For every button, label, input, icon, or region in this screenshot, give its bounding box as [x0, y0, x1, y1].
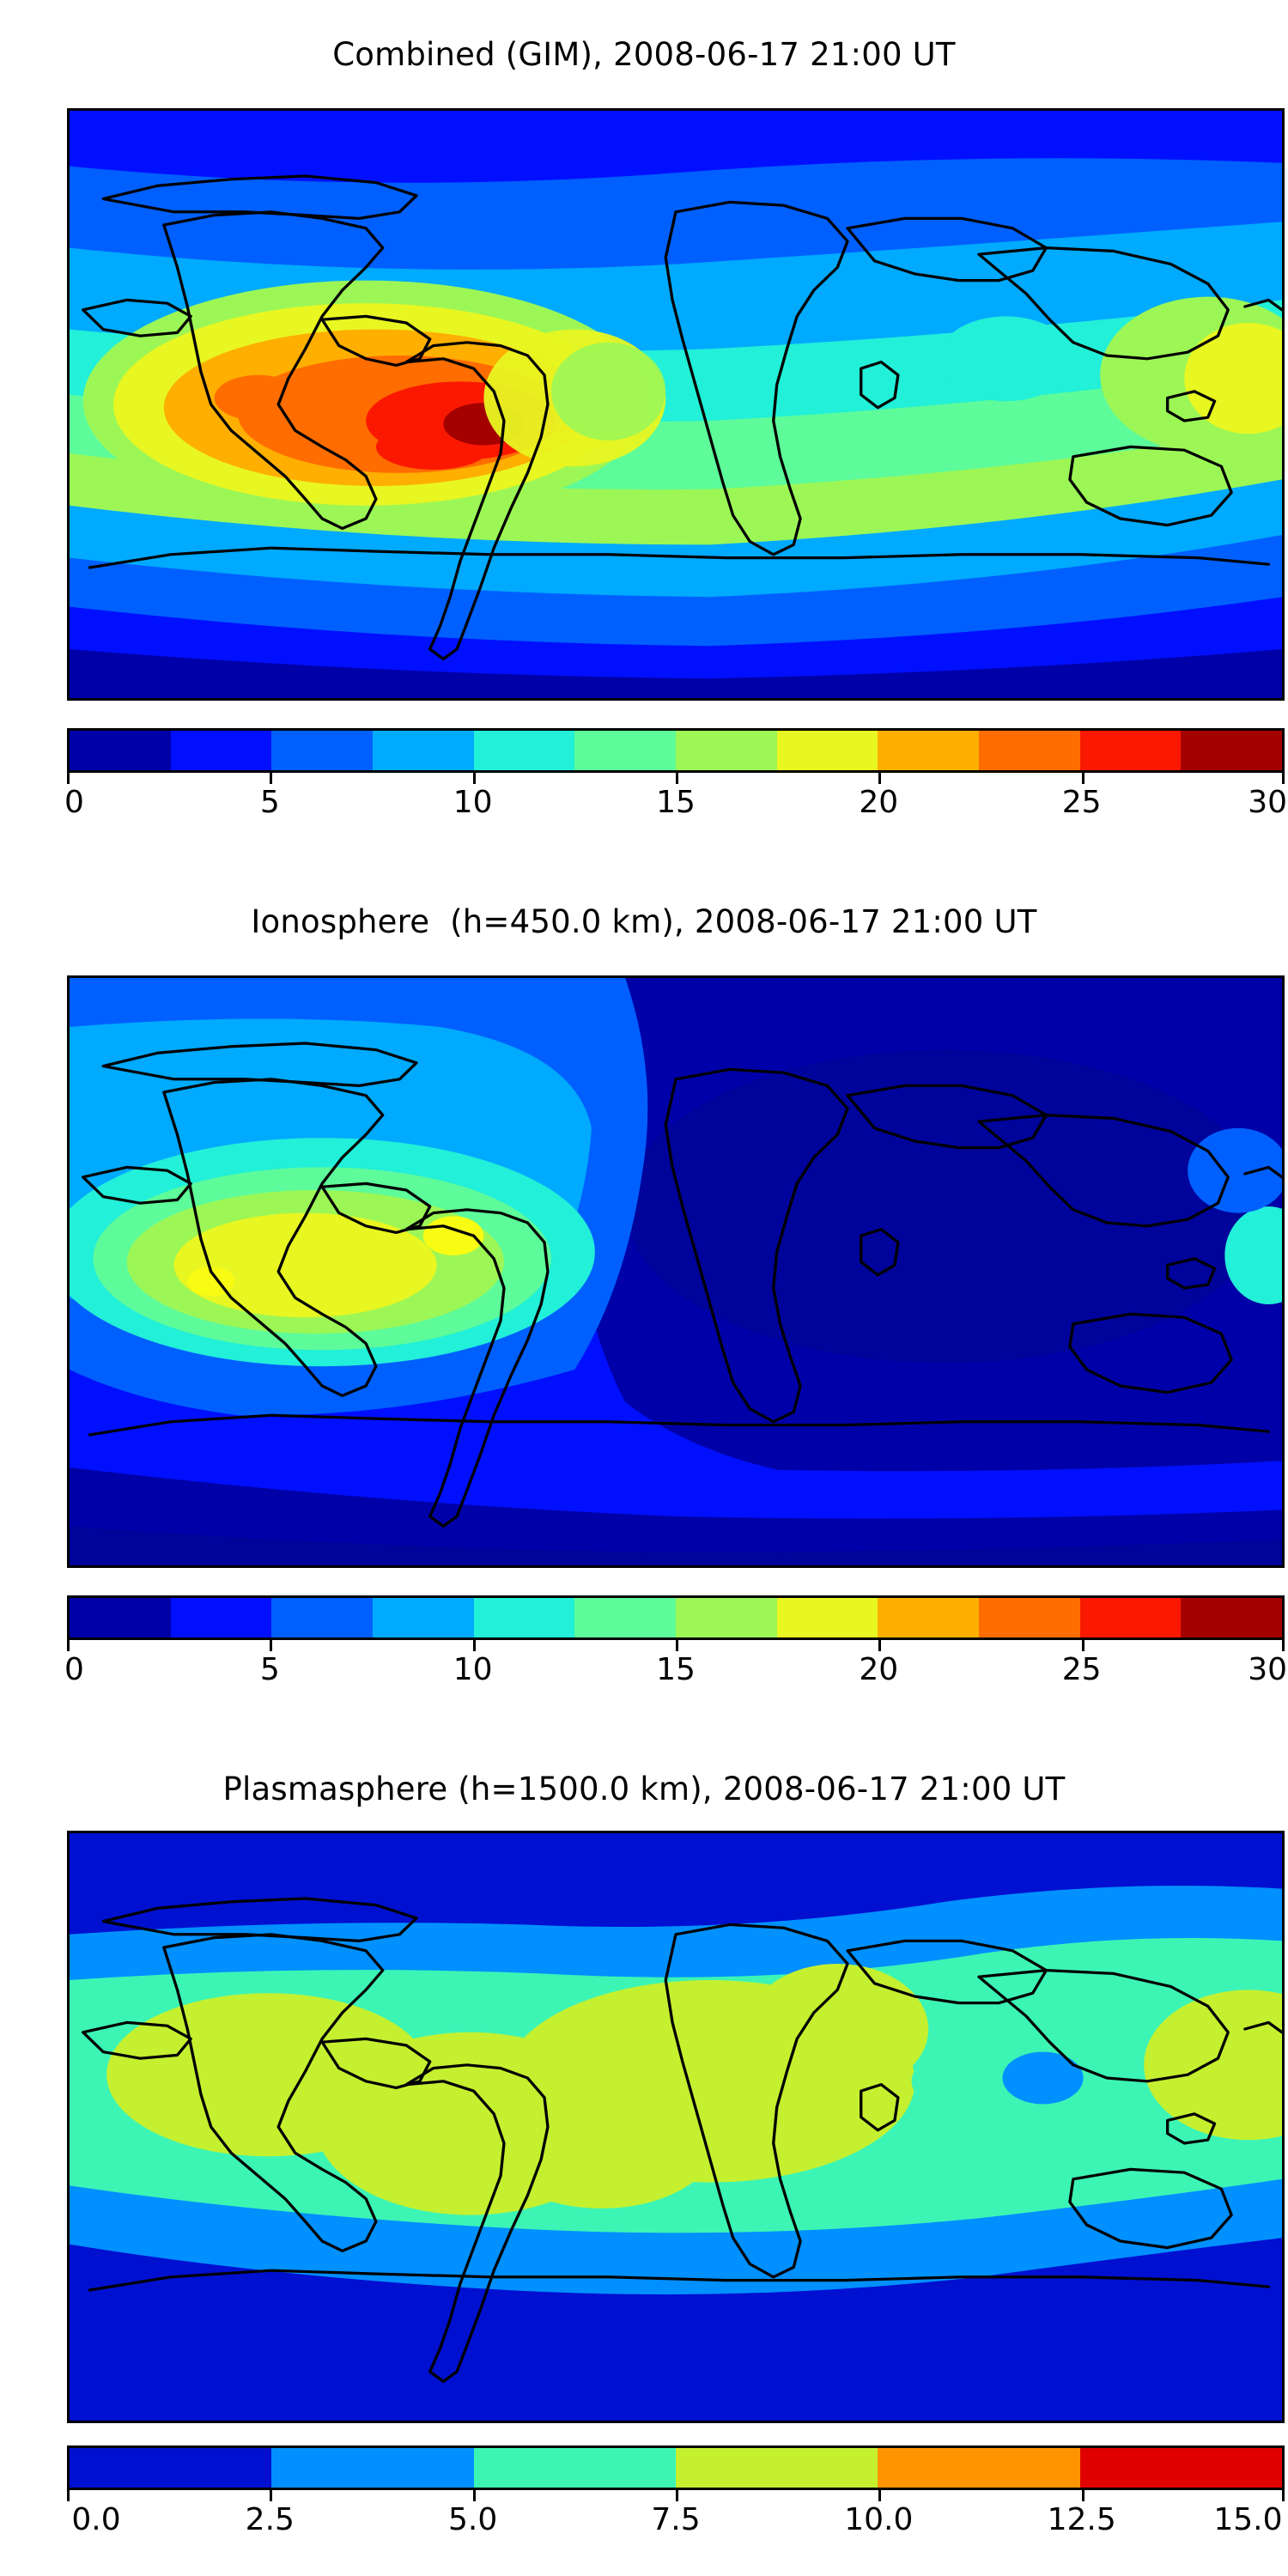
colorbar-cell — [777, 731, 878, 770]
panel-title-combined: Combined (GIM), 2008-06-17 21:00 UT — [0, 36, 1288, 74]
colorbar-cell — [373, 1598, 474, 1637]
colorbar-cell — [676, 731, 777, 770]
colorbar-tick-label: 0 — [64, 785, 84, 821]
colorbar-cell — [171, 1598, 272, 1637]
colorbar-cell — [878, 1598, 979, 1637]
colorbar-tick-label: 20 — [859, 785, 898, 821]
colorbar-plasmasphere: 0.0 2.5 5.0 7.5 10.0 12.5 15.0 — [67, 2445, 1285, 2550]
colorbar-cell — [777, 1598, 878, 1637]
colorbar-tick-label: 0.0 — [71, 2502, 120, 2538]
tec-map-figure: Combined (GIM), 2008-06-17 21:00 UT — [0, 0, 1288, 2576]
colorbar-cell — [574, 1598, 676, 1637]
colorbar-tick-label: 30 — [1248, 1652, 1287, 1688]
colorbar-cell — [676, 2448, 878, 2488]
map-ionosphere — [67, 975, 1285, 1568]
colorbar-tick-label: 25 — [1062, 1652, 1102, 1688]
colorbar-cell — [979, 1598, 1080, 1637]
colorbar-tick-label: 10 — [453, 785, 493, 821]
panel-title-ionosphere: Ionosphere (h=450.0 km), 2008-06-17 21:0… — [0, 903, 1288, 941]
colorbar-cell — [676, 1598, 777, 1637]
colorbar-cell — [878, 731, 979, 770]
colorbar-cell — [271, 731, 373, 770]
map-canvas-ionosphere — [70, 978, 1282, 1565]
colorbar-cell — [979, 731, 1080, 770]
colorbar-cell — [70, 2448, 271, 2488]
map-plasmasphere — [67, 1831, 1285, 2423]
colorbar-cell — [70, 731, 171, 770]
colorbar-strip-combined[interactable] — [67, 728, 1285, 773]
colorbar-ionosphere: 0 5 10 15 20 25 30 — [67, 1595, 1285, 1700]
colorbar-tick-label: 5 — [260, 1652, 280, 1688]
colorbar-cell — [70, 1598, 171, 1637]
colorbar-cell — [1080, 1598, 1182, 1637]
colorbar-tick-label: 5.0 — [448, 2502, 497, 2538]
colorbar-tick-label: 25 — [1062, 785, 1102, 821]
colorbar-cell — [574, 731, 676, 770]
colorbar-tick-label: 7.5 — [651, 2502, 700, 2538]
panel-title-plasmasphere: Plasmasphere (h=1500.0 km), 2008-06-17 2… — [0, 1771, 1288, 1808]
map-combined — [67, 108, 1285, 701]
colorbar-tick-label: 15 — [656, 1652, 696, 1688]
colorbar-cell — [271, 1598, 373, 1637]
map-canvas-plasmasphere — [70, 1833, 1282, 2421]
colorbar-cell — [1181, 731, 1282, 770]
colorbar-cell — [474, 2448, 676, 2488]
colorbar-tick-label: 12.5 — [1048, 2502, 1116, 2538]
colorbar-cell — [171, 731, 272, 770]
colorbar-combined: 0 5 10 15 20 25 30 — [67, 728, 1285, 833]
colorbar-axis-ionosphere: 0 5 10 15 20 25 30 — [67, 1640, 1285, 1700]
colorbar-cell — [1181, 1598, 1282, 1637]
colorbar-tick-label: 20 — [859, 1652, 898, 1688]
colorbar-cell — [271, 2448, 473, 2488]
colorbar-tick-label: 5 — [260, 785, 280, 821]
colorbar-tick-label: 2.5 — [246, 2502, 295, 2538]
colorbar-tick-label: 10 — [453, 1652, 493, 1688]
colorbar-axis-plasmasphere: 0.0 2.5 5.0 7.5 10.0 12.5 15.0 — [67, 2490, 1285, 2550]
colorbar-cell — [474, 1598, 575, 1637]
colorbar-tick-label: 30 — [1248, 785, 1287, 821]
colorbar-cell — [474, 731, 575, 770]
colorbar-cell — [373, 731, 474, 770]
colorbar-cell — [878, 2448, 1079, 2488]
colorbar-tick-label: 0 — [64, 1652, 84, 1688]
colorbar-cell — [1080, 731, 1182, 770]
map-canvas-combined — [70, 111, 1282, 698]
colorbar-cell — [1080, 2448, 1282, 2488]
colorbar-tick-label: 10.0 — [844, 2502, 913, 2538]
colorbar-strip-plasmasphere[interactable] — [67, 2445, 1285, 2490]
colorbar-strip-ionosphere[interactable] — [67, 1595, 1285, 1640]
colorbar-axis-combined: 0 5 10 15 20 25 30 — [67, 773, 1285, 833]
colorbar-tick-label: 15 — [656, 785, 696, 821]
colorbar-tick-label: 15.0 — [1213, 2502, 1282, 2538]
